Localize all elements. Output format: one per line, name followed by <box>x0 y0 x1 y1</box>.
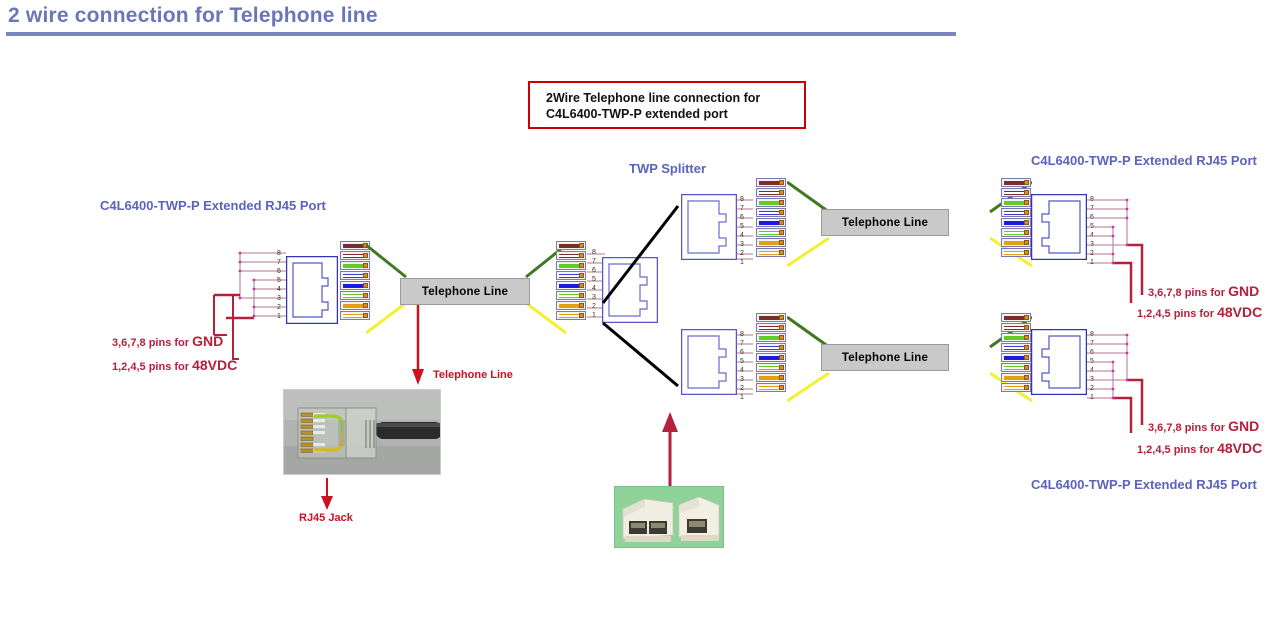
left-note-vdc-text: 1,2,4,5 pins for <box>112 361 192 373</box>
pin-number: 8 <box>592 249 596 256</box>
wire-swatch-orange <box>1001 238 1031 247</box>
wire-core <box>559 244 580 248</box>
pin-number: 1 <box>740 259 744 266</box>
wire-core <box>759 366 780 370</box>
pin-number: 4 <box>740 232 744 239</box>
wire-core <box>1004 201 1025 205</box>
wire-swatch-green <box>756 333 786 342</box>
wire-tip <box>579 293 584 298</box>
wire-swatch-blue <box>1001 218 1031 227</box>
right-bottom-note-vdc-strong: 48VDC <box>1217 440 1262 456</box>
wire-tip <box>779 335 784 340</box>
wire-tip <box>779 220 784 225</box>
pin-number: 4 <box>740 367 744 374</box>
label-twp-splitter: TWP Splitter <box>629 161 706 176</box>
rj45-jack-label: RJ45 Jack <box>299 512 353 524</box>
pin-number: 7 <box>740 205 744 212</box>
wire-core <box>1004 241 1025 245</box>
pin-number: 6 <box>277 268 281 275</box>
wire-tip <box>1024 325 1029 330</box>
wire-core <box>1004 316 1025 320</box>
wire-core <box>343 314 364 318</box>
pin-number: 2 <box>277 304 281 311</box>
wire-core <box>759 251 780 255</box>
right-top-note-gnd-text: 3,6,7,8 pins for <box>1148 287 1228 299</box>
pin-number: 2 <box>592 303 596 310</box>
telephone-line-arrow-label: Telephone Line <box>433 369 513 381</box>
right-bottom-swatches <box>1001 313 1031 393</box>
callout-line-1: 2Wire Telephone line connection for <box>546 91 760 105</box>
wire-swatch-green <box>756 198 786 207</box>
wire-tip <box>1024 200 1029 205</box>
right-bottom-note-gnd-text: 3,6,7,8 pins for <box>1148 422 1228 434</box>
splitter-top-out-swatches <box>756 178 786 258</box>
wire-tip <box>1024 250 1029 255</box>
wire-core <box>759 336 780 340</box>
wire-core <box>559 284 580 288</box>
wire-tip <box>779 375 784 380</box>
wire-core <box>759 181 780 185</box>
right-bottom-note-gnd: 3,6,7,8 pins for GND <box>1148 418 1259 434</box>
wire-swatch-blue <box>756 218 786 227</box>
wire-core <box>1004 251 1025 255</box>
wire-swatch-white-blue <box>756 343 786 352</box>
wire-tip <box>1024 220 1029 225</box>
wire-tip <box>1024 365 1029 370</box>
wire-core <box>759 356 780 360</box>
pin-number: 7 <box>740 340 744 347</box>
pin-number: 8 <box>740 331 744 338</box>
wire-swatch-white-brown <box>1001 188 1031 197</box>
wire-swatch-white-orange <box>756 248 786 257</box>
wire-tip <box>779 345 784 350</box>
wire-tip <box>779 190 784 195</box>
wire-core <box>559 264 580 268</box>
wire-tip <box>1024 230 1029 235</box>
wire-core <box>759 221 780 225</box>
wire-core <box>759 231 780 235</box>
pin-number: 1 <box>740 394 744 401</box>
wire-swatch-white-blue <box>1001 208 1031 217</box>
callout-line-2: C4L6400-TWP-P extended port <box>546 107 728 121</box>
wire-tip <box>1024 210 1029 215</box>
wire-tip <box>779 180 784 185</box>
wire-swatch-green <box>1001 333 1031 342</box>
wire-tip <box>579 253 584 258</box>
wire-core <box>1004 231 1025 235</box>
right-top-note-gnd-strong: GND <box>1228 283 1259 299</box>
wire-tip <box>1024 375 1029 380</box>
left-note-leaders <box>205 290 245 370</box>
wire-core <box>759 386 780 390</box>
wire-swatch-orange <box>556 301 586 310</box>
pin-number: 6 <box>740 349 744 356</box>
right-bottom-rj45-connector-symbol <box>1031 329 1087 395</box>
wire-swatch-white-green <box>1001 228 1031 237</box>
splitter-input-swatches <box>556 241 586 321</box>
wire-core <box>343 244 364 248</box>
wire-swatch-white-brown <box>1001 323 1031 332</box>
splitter-bottom-out-swatches <box>756 313 786 393</box>
wire-swatch-white-brown <box>756 188 786 197</box>
callout-box: 2Wire Telephone line connection for C4L6… <box>528 81 806 129</box>
wire-tip <box>779 315 784 320</box>
wire-swatch-white-blue <box>556 271 586 280</box>
wire-core <box>759 211 780 215</box>
telephone-line-box-right-top: Telephone Line <box>821 209 949 236</box>
wire-tip <box>1024 315 1029 320</box>
telephone-line-arrow <box>410 305 430 387</box>
label-right-port-bottom: C4L6400-TWP-P Extended RJ45 Port <box>1031 477 1257 492</box>
wire-tip <box>579 313 584 318</box>
wire-core <box>1004 181 1025 185</box>
pin-number: 8 <box>740 196 744 203</box>
wire-swatch-white-blue <box>1001 343 1031 352</box>
wire-swatch-white-green <box>756 228 786 237</box>
splitter-photo-arrow <box>659 412 681 486</box>
rj45-jack-arrow <box>318 478 338 512</box>
telephone-line-box-right-bottom: Telephone Line <box>821 344 949 371</box>
wire-tip <box>1024 335 1029 340</box>
wire-tip <box>779 240 784 245</box>
wire-core <box>1004 221 1025 225</box>
splitter-top-connector-symbol <box>681 194 737 260</box>
wire-tip <box>779 230 784 235</box>
pin-number: 5 <box>740 223 744 230</box>
splitter-branch-lines <box>600 190 690 395</box>
right-top-pin-wiring <box>1087 195 1149 305</box>
wire-swatch-blue <box>1001 353 1031 362</box>
wire-core <box>1004 376 1025 380</box>
wire-core <box>559 314 580 318</box>
wire-swatch-orange <box>756 373 786 382</box>
pin-number: 5 <box>740 358 744 365</box>
pin-number: 3 <box>277 295 281 302</box>
rj45-jack-photo <box>283 389 441 475</box>
wire-swatch-white-blue <box>756 208 786 217</box>
pin-number: 8 <box>277 250 281 257</box>
label-right-port-top: C4L6400-TWP-P Extended RJ45 Port <box>1031 153 1257 168</box>
wire-tip <box>779 250 784 255</box>
right-top-note-vdc-strong: 48VDC <box>1217 304 1262 320</box>
wire-core <box>759 201 780 205</box>
wire-tip <box>1024 345 1029 350</box>
wire-swatch-white-green <box>556 291 586 300</box>
wire-tip <box>579 263 584 268</box>
wire-swatch-white-brown <box>756 323 786 332</box>
pin-number: 4 <box>277 286 281 293</box>
wire-tip <box>1024 190 1029 195</box>
right-bottom-note-vdc-text: 1,2,4,5 pins for <box>1137 444 1217 456</box>
wire-tip <box>1024 355 1029 360</box>
wire-swatch-brown <box>756 178 786 187</box>
wire-core <box>1004 336 1025 340</box>
pin-number: 2 <box>740 385 744 392</box>
wire-tip <box>579 303 584 308</box>
wire-swatch-brown <box>1001 178 1031 187</box>
wire-core <box>1004 386 1025 390</box>
wire-core <box>759 376 780 380</box>
left-rj45-connector-symbol <box>286 256 338 324</box>
wire-swatch-white-orange <box>756 383 786 392</box>
wire-core <box>343 274 364 278</box>
label-left-port: C4L6400-TWP-P Extended RJ45 Port <box>100 198 326 213</box>
pin-number: 3 <box>740 241 744 248</box>
wire-swatch-white-brown <box>556 251 586 260</box>
pin-number: 1 <box>277 313 281 320</box>
wire-tip <box>1024 385 1029 390</box>
wire-core <box>759 241 780 245</box>
wire-core <box>559 294 580 298</box>
wire-tip <box>1024 240 1029 245</box>
right-top-swatches <box>1001 178 1031 258</box>
wire-swatch-white-orange <box>1001 383 1031 392</box>
right-top-note-vdc: 1,2,4,5 pins for 48VDC <box>1137 304 1262 320</box>
wire-core <box>1004 326 1025 330</box>
splitter-bottom-connector-symbol <box>681 329 737 395</box>
telephone-line-box-left: Telephone Line <box>400 278 530 305</box>
wire-core <box>343 254 364 258</box>
right-bottom-note-gnd-strong: GND <box>1228 418 1259 434</box>
wire-core <box>759 316 780 320</box>
right-bottom-pin-wiring <box>1087 330 1149 440</box>
wire-swatch-brown <box>1001 313 1031 322</box>
wire-core <box>759 346 780 350</box>
twp-splitter-photo <box>614 486 724 548</box>
wire-core <box>1004 211 1025 215</box>
right-top-rj45-connector-symbol <box>1031 194 1087 260</box>
wire-swatch-orange <box>1001 373 1031 382</box>
wire-tip <box>779 385 784 390</box>
wire-tip <box>779 365 784 370</box>
wire-tip <box>779 210 784 215</box>
wire-core <box>1004 191 1025 195</box>
wire-tip <box>579 243 584 248</box>
pin-number: 2 <box>740 250 744 257</box>
pin-number: 3 <box>592 294 596 301</box>
wire-core <box>1004 356 1025 360</box>
wire-core <box>759 191 780 195</box>
pin-number: 6 <box>592 267 596 274</box>
pin-number: 3 <box>740 376 744 383</box>
right-top-note-vdc-text: 1,2,4,5 pins for <box>1137 308 1217 320</box>
wire-swatch-orange <box>756 238 786 247</box>
wire-swatch-white-green <box>756 363 786 372</box>
wire-core <box>1004 346 1025 350</box>
pin-number: 6 <box>740 214 744 221</box>
wire-swatch-white-orange <box>1001 248 1031 257</box>
wire-swatch-green <box>556 261 586 270</box>
wire-core <box>759 326 780 330</box>
wire-core <box>559 304 580 308</box>
wire-tip <box>779 200 784 205</box>
pin-number: 4 <box>592 285 596 292</box>
wire-swatch-white-green <box>1001 363 1031 372</box>
wire-core <box>559 274 580 278</box>
right-bottom-note-vdc: 1,2,4,5 pins for 48VDC <box>1137 440 1262 456</box>
pin-number: 5 <box>592 276 596 283</box>
wire-tip <box>579 283 584 288</box>
wire-core <box>343 264 364 268</box>
wire-core <box>343 294 364 298</box>
page-title: 2 wire connection for Telephone line <box>8 4 378 28</box>
wire-swatch-blue <box>556 281 586 290</box>
wire-core <box>559 254 580 258</box>
wire-swatch-green <box>1001 198 1031 207</box>
wire-tip <box>579 273 584 278</box>
wire-tip <box>779 355 784 360</box>
left-note-gnd-text: 3,6,7,8 pins for <box>112 337 192 349</box>
wire-core <box>343 304 364 308</box>
wire-tip <box>1024 180 1029 185</box>
wire-swatch-brown <box>756 313 786 322</box>
wire-swatch-white-orange <box>556 311 586 320</box>
pin-number: 7 <box>277 259 281 266</box>
wire-core <box>343 284 364 288</box>
wire-tip <box>779 325 784 330</box>
wire-swatch-brown <box>556 241 586 250</box>
right-top-note-gnd: 3,6,7,8 pins for GND <box>1148 283 1259 299</box>
pin-number: 5 <box>277 277 281 284</box>
pin-number: 7 <box>592 258 596 265</box>
wire-core <box>1004 366 1025 370</box>
wire-swatch-blue <box>756 353 786 362</box>
pin-number: 1 <box>592 312 596 319</box>
title-underline <box>6 32 956 36</box>
